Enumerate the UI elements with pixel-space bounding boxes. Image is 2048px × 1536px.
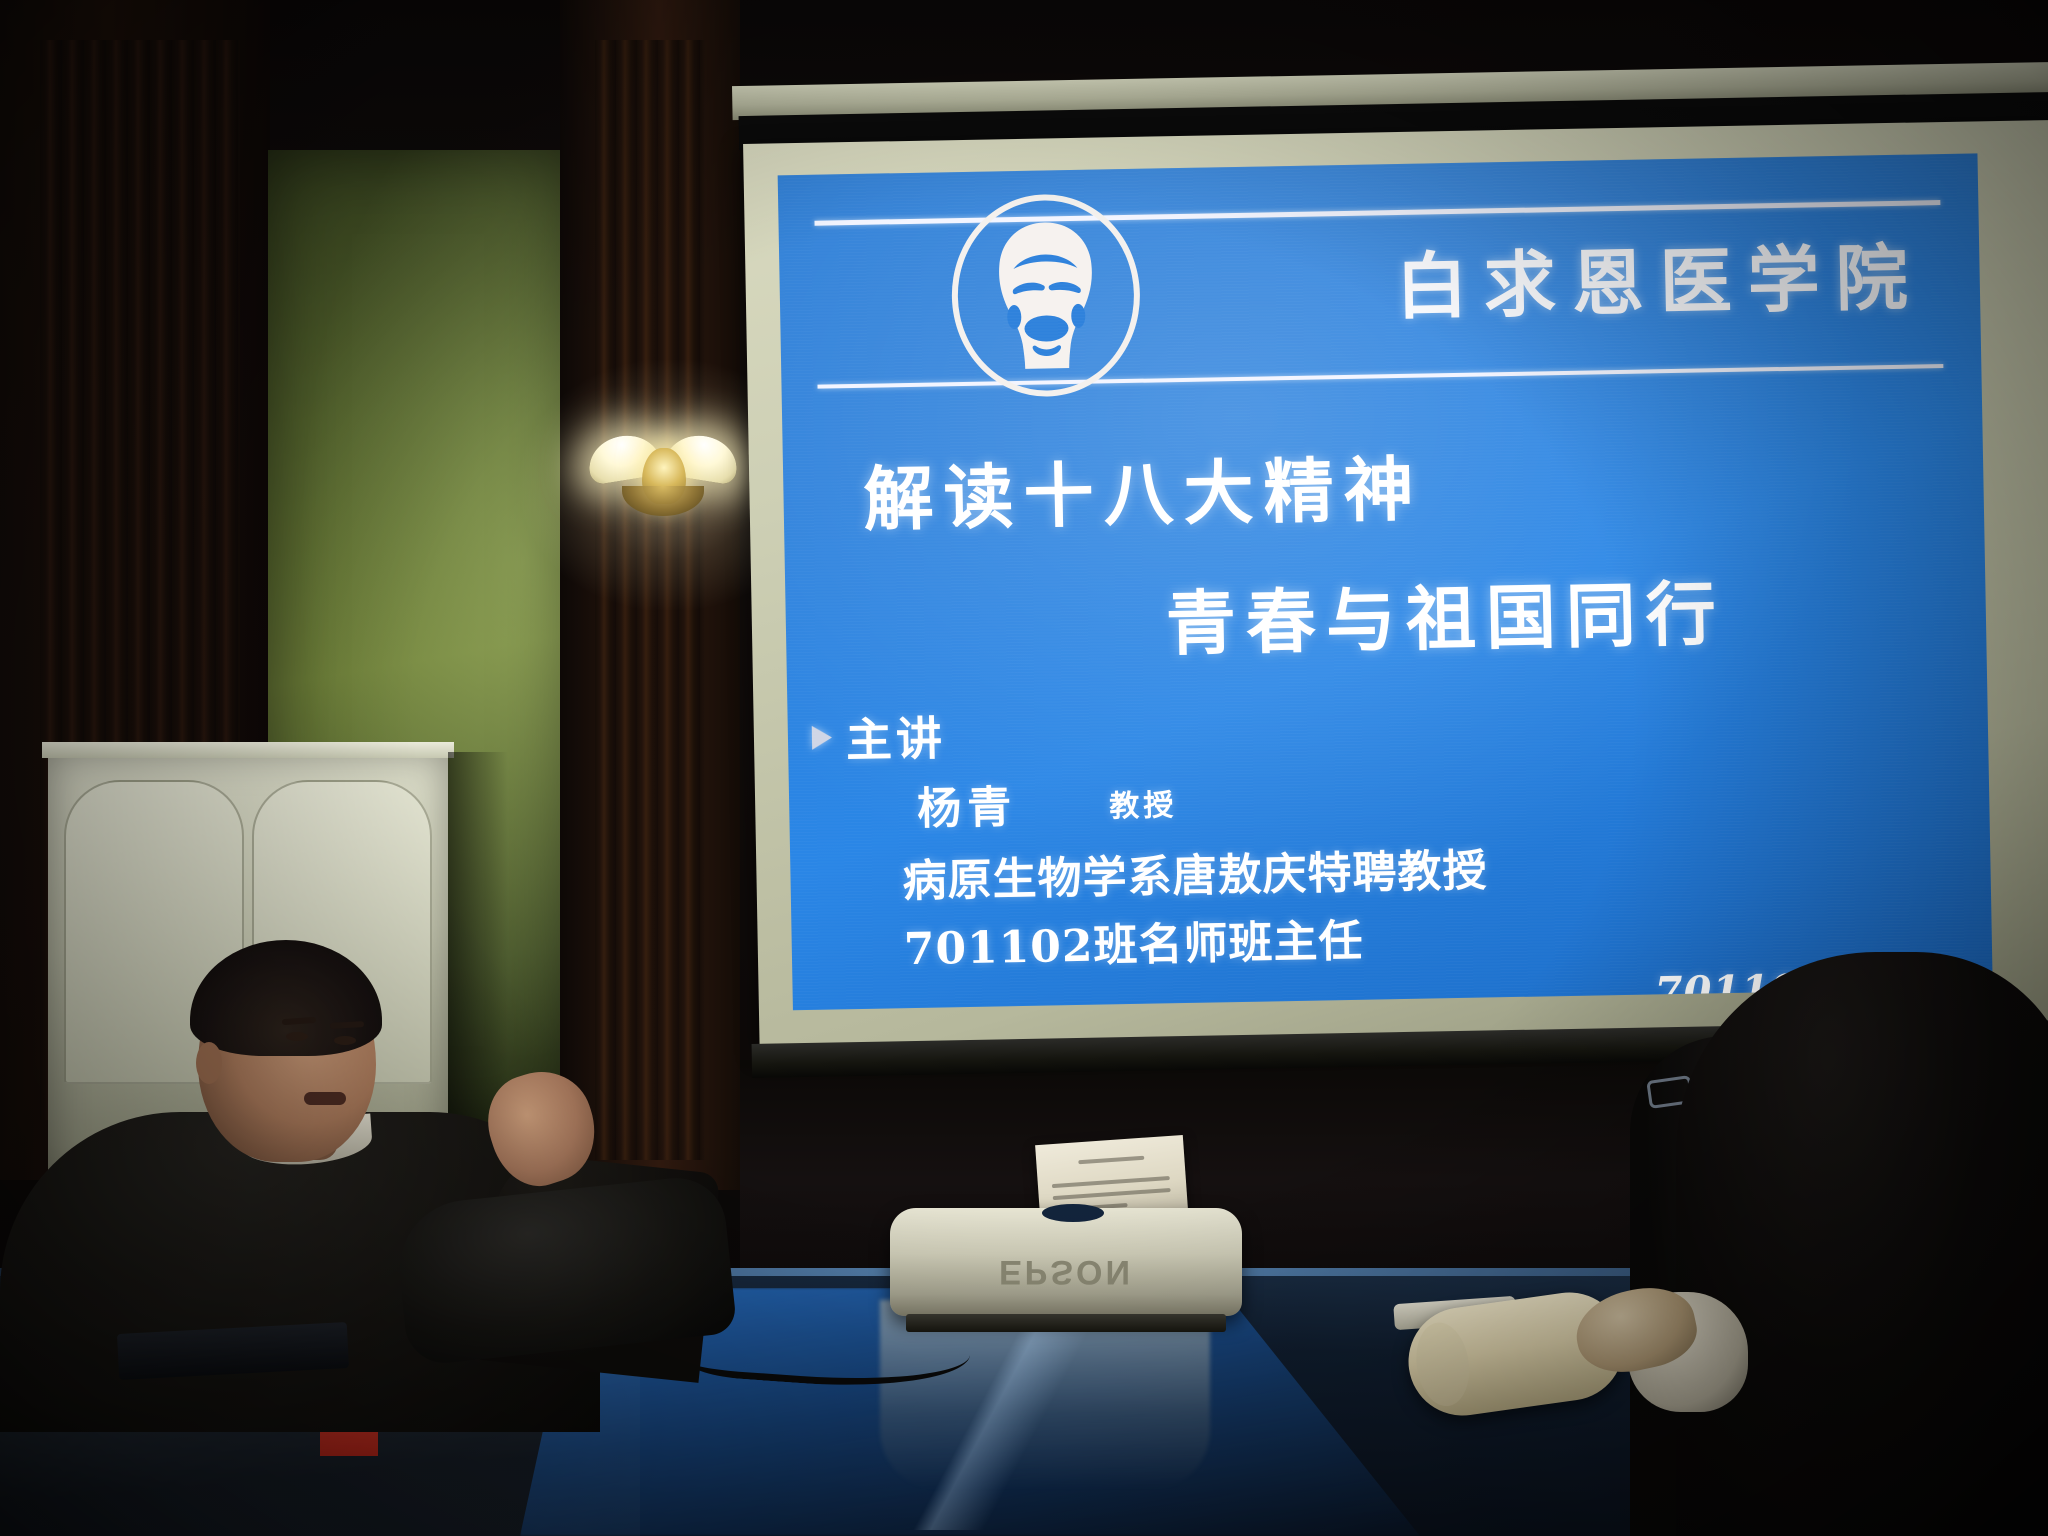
projector-brand-label: EPSON (890, 1252, 1242, 1291)
speaker-ear (196, 1042, 222, 1084)
presenter-department: 病原生物学系唐敖庆特聘教授 (902, 834, 1488, 909)
projected-slide-area: 白求恩医学院 解读十八大精神 青春与祖国同行 主讲 杨青 教授 病原生物学系唐敖… (778, 153, 1993, 1010)
slide-header: 白求恩医学院 (814, 182, 1943, 391)
slide-title-line-1: 解读十八大精神 (863, 434, 1425, 545)
slide-title-line-2: 青春与祖国同行 (1165, 558, 1727, 669)
triangle-bullet-icon (812, 725, 832, 749)
bethune-portrait-logo (950, 193, 1142, 398)
speaker-eye (334, 1036, 356, 1045)
speaker-eye (286, 1032, 308, 1041)
slide-bullet-label: 主讲 (845, 702, 946, 770)
slide-bullet-row: 主讲 (811, 702, 946, 770)
projector-lens-slot (1042, 1204, 1104, 1222)
header-rule-bottom (817, 364, 1943, 389)
epson-projector: EPSON (890, 1208, 1242, 1316)
projection-screen: 白求恩医学院 解读十八大精神 青春与祖国同行 主讲 杨青 教授 病原生物学系唐敖… (742, 62, 2048, 1076)
photo-scene: 白求恩医学院 解读十八大精神 青春与祖国同行 主讲 杨青 教授 病原生物学系唐敖… (0, 0, 2048, 1536)
slide: 白求恩医学院 解读十八大精神 青春与祖国同行 主讲 杨青 教授 病原生物学系唐敖… (778, 153, 1993, 1010)
presenter-role: 701102班名师班主任 (903, 905, 1364, 977)
slide-header-title: 白求恩医学院 (1395, 218, 1925, 333)
audience-head-foreground (1676, 952, 2048, 1536)
presenter-name: 杨青 (917, 771, 1018, 837)
speaker-mouth (304, 1092, 346, 1105)
presenter-rank: 教授 (1109, 780, 1178, 825)
note-line (1052, 1176, 1170, 1188)
note-line (1053, 1188, 1171, 1200)
wall-sconce-lamp (588, 424, 738, 536)
wood-fluting-middle (595, 40, 705, 1160)
screen-white-border: 白求恩医学院 解读十八大精神 青春与祖国同行 主讲 杨青 教授 病原生物学系唐敖… (743, 120, 2048, 1049)
sconce-arm (622, 486, 704, 516)
cabinet-top (42, 742, 454, 758)
note-line (1078, 1156, 1144, 1165)
header-rule-top (814, 200, 1940, 226)
